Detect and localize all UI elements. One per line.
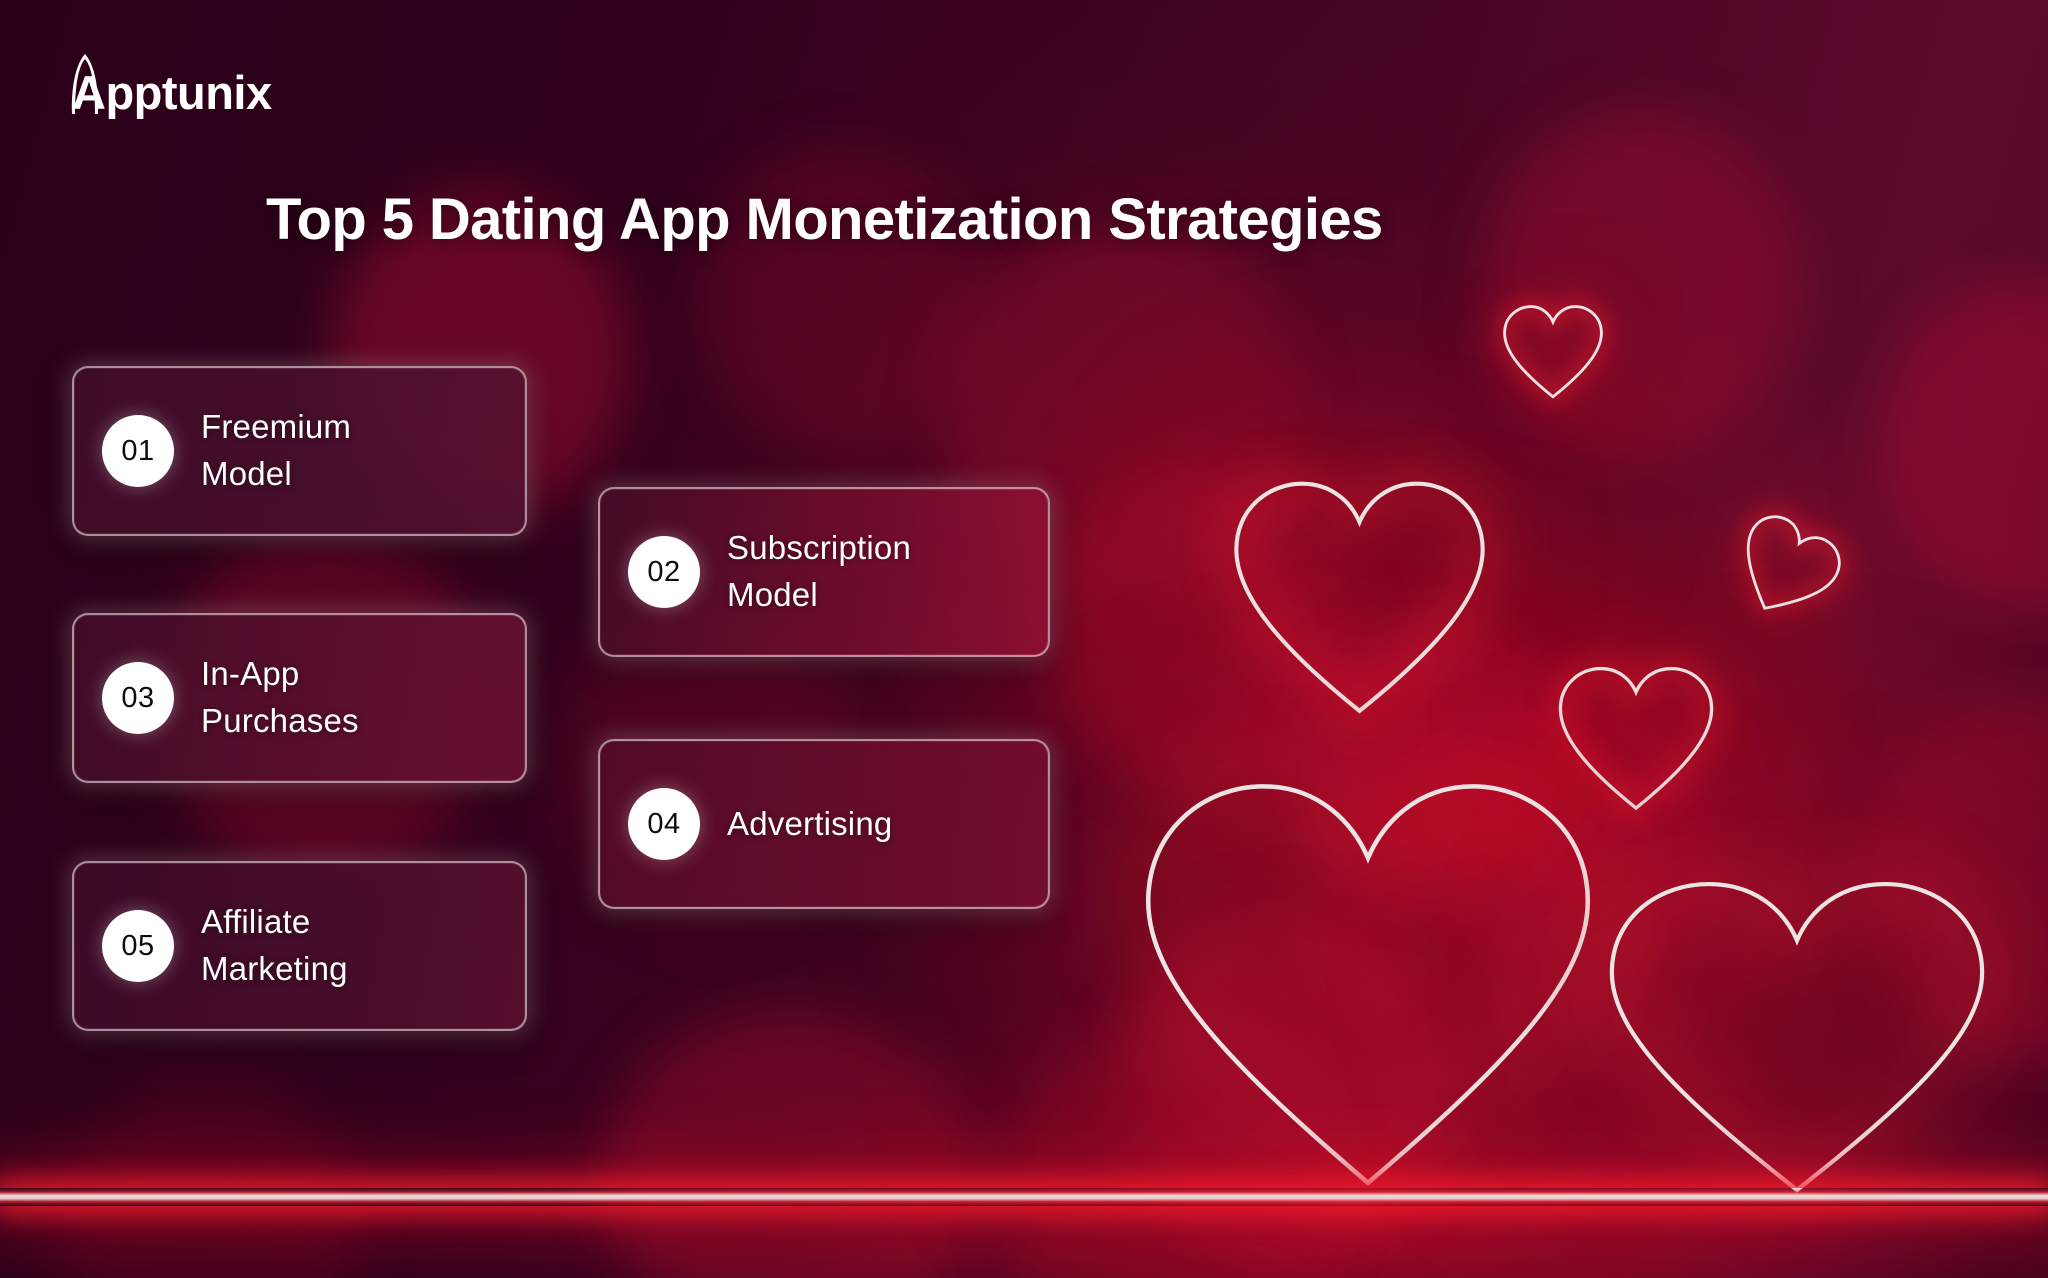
strategy-label: In-App Purchases [201,651,359,745]
page-title: Top 5 Dating App Monetization Strategies [266,186,1383,253]
neon-heart-icon [1711,499,1857,645]
neon-heart-icon [1592,872,2002,1202]
neon-heart-icon [1128,772,1608,1202]
strategy-card-in-app-purchases[interactable]: 03 In-App Purchases [72,613,527,783]
strategy-number-badge: 04 [628,788,700,860]
neon-heart-icon [1498,300,1608,410]
strategy-card-subscription-model[interactable]: 02 Subscription Model [598,487,1050,657]
strategy-number-badge: 01 [102,415,174,487]
strategy-card-advertising[interactable]: 04 Advertising [598,739,1050,909]
strategy-label: Affiliate Marketing [201,899,348,993]
neon-heart-icon [1222,470,1497,730]
brand-logo-text: Apptunix [72,69,272,116]
infographic-canvas: Apptunix Top 5 Dating App Monetization S… [0,0,2048,1278]
bokeh-blob [60,1080,360,1278]
strategy-label: Freemium Model [201,404,351,498]
strategy-card-freemium-model[interactable]: 01 Freemium Model [72,366,527,536]
strategy-number-badge: 05 [102,910,174,982]
bokeh-blob [600,1010,980,1278]
strategy-label: Subscription Model [727,525,911,619]
strategy-label: Advertising [727,801,892,848]
brand-logo[interactable]: Apptunix [68,52,298,116]
neon-floor-line [0,1188,2048,1206]
strategy-number-badge: 03 [102,662,174,734]
bokeh-blob [1880,280,2048,610]
strategy-number-badge: 02 [628,536,700,608]
strategy-card-affiliate-marketing[interactable]: 05 Affiliate Marketing [72,861,527,1031]
